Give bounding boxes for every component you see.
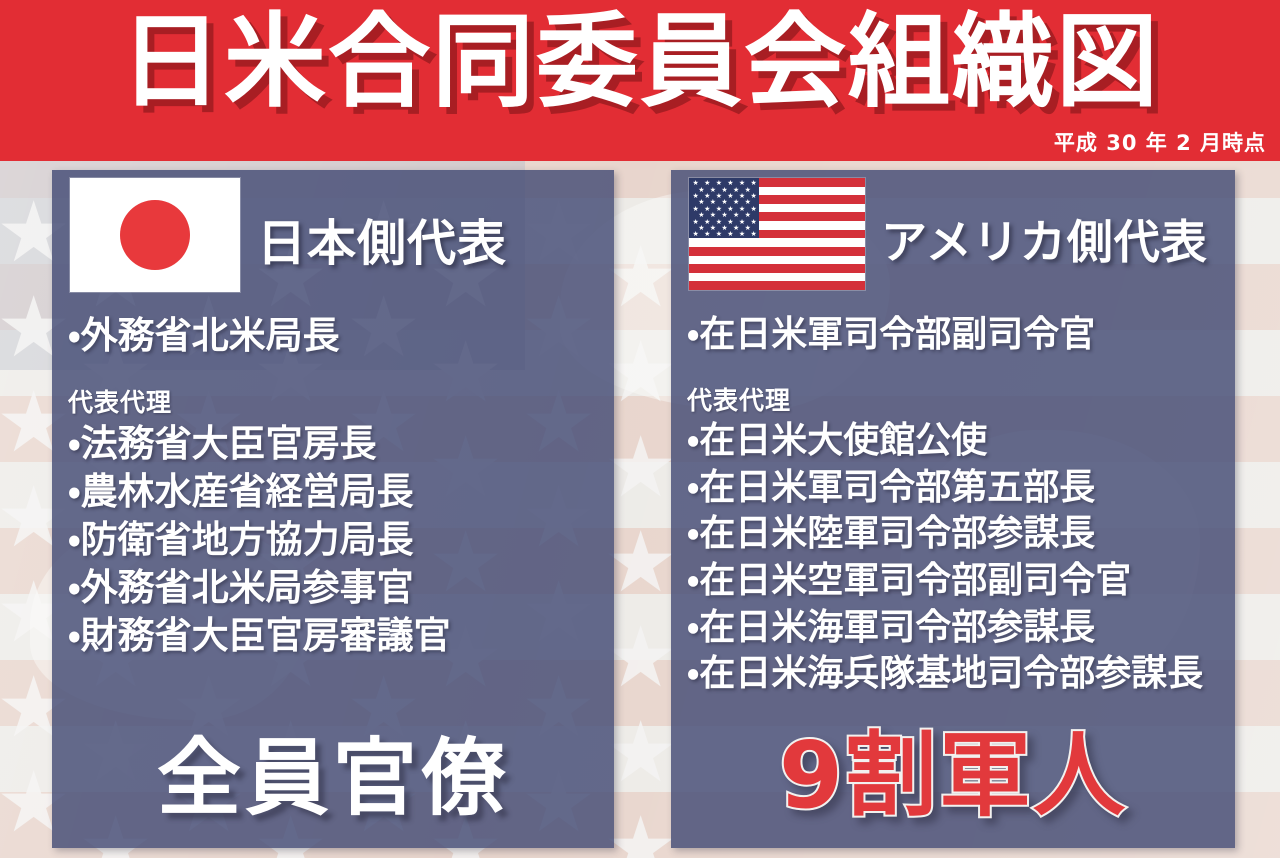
japan-flag-icon <box>70 178 240 292</box>
usa-deputy-list: ・在日米大使館公使・在日米軍司令部第五部長・在日米陸軍司令部参謀長・在日米空軍司… <box>671 419 1235 697</box>
title-bar: 日米合同委員会組織図 平成 30 年 2 月時点 <box>0 0 1280 161</box>
list-item: ・在日米海軍司令部参謀長 <box>687 606 1235 651</box>
usa-flag-canton: ★★★★★★★★★★★★★★★★★★★★★★★★★★★★★★★★★★★★★★★★… <box>689 178 759 238</box>
list-item: ・在日米空軍司令部副司令官 <box>687 559 1235 604</box>
usa-flag-stripe <box>689 264 865 273</box>
infographic-root: ★★★★★★★★★★★★★★★★★★★★★★★★★★★★★★★★★★★★★★★★… <box>0 0 1280 858</box>
japan-deputy-list: ・法務省大臣官房長・農林水産省経営局長・防衛省地方協力局長・外務省北米局参事官・… <box>52 421 614 658</box>
usa-conclusion: 9割軍人 <box>671 701 1235 834</box>
usa-flag-stripe <box>689 281 865 290</box>
usa-lead-representative: ・在日米軍司令部副司令官 <box>687 305 1235 357</box>
page-title: 日米合同委員会組織図 <box>0 6 1280 120</box>
japan-conclusion: 全員官僚 <box>52 711 614 832</box>
panel-usa-title: アメリカ側代表 <box>881 206 1208 272</box>
list-item: ・防衛省地方協力局長 <box>68 517 614 563</box>
usa-deputy-heading: 代表代理 <box>687 381 1235 417</box>
japan-lead-representative: ・外務省北米局長 <box>68 305 614 359</box>
usa-flag-star-icon: ★ <box>751 206 757 213</box>
list-item: ・在日米陸軍司令部参謀長 <box>687 512 1235 557</box>
panel-japan-header: 日本側代表 <box>52 170 614 295</box>
list-item: ・在日米海兵隊基地司令部参謀長 <box>687 652 1235 697</box>
usa-flag-star-icon: ★ <box>751 193 757 200</box>
usa-flag-star-icon: ★ <box>704 231 710 238</box>
usa-flag-star-icon: ★ <box>716 231 722 238</box>
list-item: ・財務省大臣官房審議官 <box>68 613 614 659</box>
list-item: ・在日米大使館公使 <box>687 419 1235 464</box>
list-item: ・法務省大臣官房長 <box>68 421 614 467</box>
panel-japan: 日本側代表 ・外務省北米局長 代表代理 ・法務省大臣官房長・農林水産省経営局長・… <box>52 170 614 848</box>
list-item: ・外務省北米局参事官 <box>68 565 614 611</box>
usa-flag-stripe <box>689 247 865 256</box>
japan-flag-sun <box>120 200 190 270</box>
usa-flag-star-icon: ★ <box>751 231 757 238</box>
date-note: 平成 30 年 2 月時点 <box>1054 127 1266 157</box>
usa-flag-star-icon: ★ <box>751 219 757 226</box>
usa-flag-star-icon: ★ <box>751 180 757 187</box>
japan-deputy-heading: 代表代理 <box>68 383 614 419</box>
list-item: ・在日米軍司令部第五部長 <box>687 466 1235 511</box>
panel-usa-header: ★★★★★★★★★★★★★★★★★★★★★★★★★★★★★★★★★★★★★★★★… <box>671 170 1235 295</box>
list-item: ・農林水産省経営局長 <box>68 469 614 515</box>
usa-flag-star-icon: ★ <box>693 231 699 238</box>
panel-usa: ★★★★★★★★★★★★★★★★★★★★★★★★★★★★★★★★★★★★★★★★… <box>671 170 1235 848</box>
usa-flag-star-icon: ★ <box>739 231 745 238</box>
usa-flag-star-icon: ★ <box>727 231 733 238</box>
panel-japan-title: 日本側代表 <box>257 204 507 275</box>
usa-flag-icon: ★★★★★★★★★★★★★★★★★★★★★★★★★★★★★★★★★★★★★★★★… <box>689 178 865 290</box>
